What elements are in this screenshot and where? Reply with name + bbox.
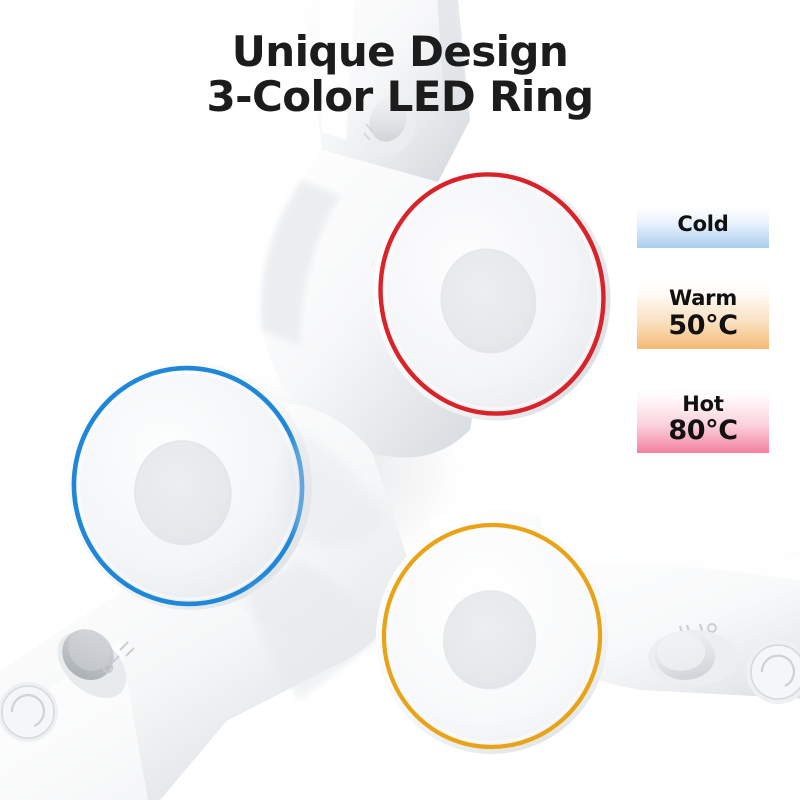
temperature-badge-cold: Cold <box>637 201 769 248</box>
temperature-badge-hot: Hot 80°C <box>637 386 769 453</box>
badge-temp-warm: 50°C <box>668 311 737 341</box>
cool-shot-button-left <box>0 682 58 742</box>
badge-label-cold: Cold <box>677 213 728 237</box>
product-marketing-image: Unique Design 3-Color LED Ring Cold Warm… <box>0 0 800 800</box>
badge-label-hot: Hot <box>682 393 723 417</box>
heat-switch-bottom <box>648 630 738 686</box>
temperature-badge-warm: Warm 50°C <box>637 279 769 349</box>
badge-label-warm: Warm <box>669 287 737 311</box>
badge-temp-hot: 80°C <box>668 416 737 446</box>
